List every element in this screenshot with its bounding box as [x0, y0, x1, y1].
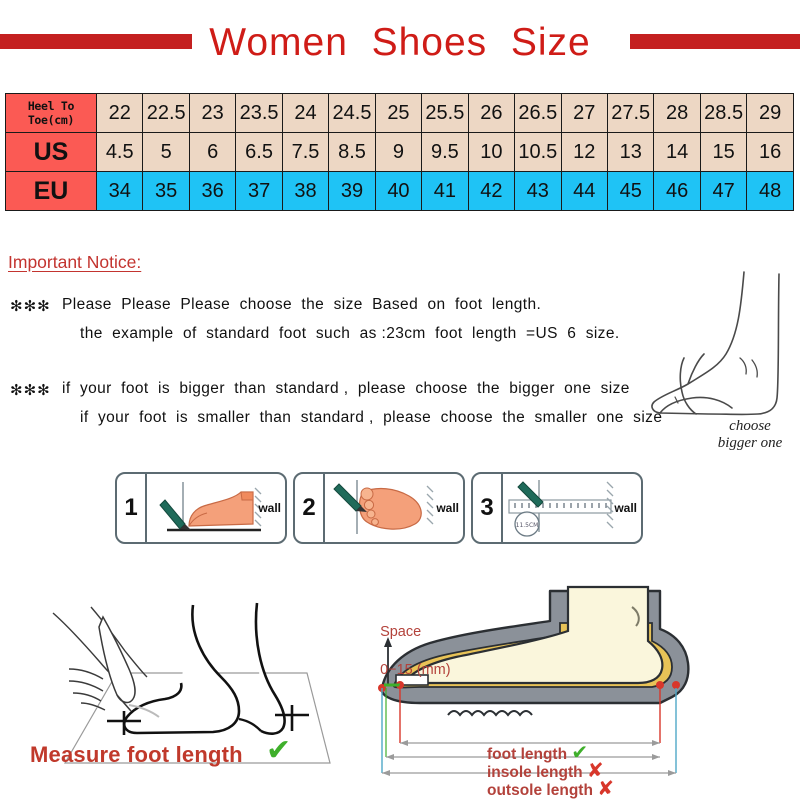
- step-number-2: 2: [295, 474, 325, 542]
- cell-eu-10: 44: [561, 172, 607, 211]
- choose-bigger-one-caption: choose bigger one: [690, 418, 800, 452]
- cell-us-0: 4.5: [97, 133, 143, 172]
- cell-us-13: 15: [700, 133, 746, 172]
- cell-cm-8: 26: [468, 94, 514, 133]
- cell-eu-5: 39: [329, 172, 375, 211]
- cell-us-4: 7.5: [282, 133, 328, 172]
- cell-cm-9: 26.5: [515, 94, 561, 133]
- step-number-1: 1: [117, 474, 147, 542]
- cell-eu-7: 41: [422, 172, 468, 211]
- cell-cm-4: 24: [282, 94, 328, 133]
- cell-eu-6: 40: [375, 172, 421, 211]
- table-row-eu: EU 34 35 36 37 38 39 40 41 42 43 44 45 4…: [6, 172, 794, 211]
- cell-cm-11: 27.5: [607, 94, 653, 133]
- cell-us-5: 8.5: [329, 133, 375, 172]
- space-label-line2: 0−15 (mm): [380, 662, 451, 678]
- cell-eu-0: 34: [97, 172, 143, 211]
- cell-eu-11: 45: [607, 172, 653, 211]
- choose-cap-line1: choose: [729, 418, 771, 434]
- step-panel-1: 1 wall: [115, 472, 287, 544]
- cell-cm-0: 22: [97, 94, 143, 133]
- notice-line-2: the example of standard foot such as :23…: [80, 325, 620, 343]
- cell-cm-12: 28: [654, 94, 700, 133]
- step-3-ruler-badge: 11.5CM: [516, 522, 539, 529]
- table-row-heel-to-toe: Heel To Toe(cm) 22 22.5 23 23.5 24 24.5 …: [6, 94, 794, 133]
- space-label: Space 0−15 (mm): [372, 604, 451, 680]
- row-label-heel-to-toe: Heel To Toe(cm): [6, 94, 97, 133]
- cell-eu-3: 37: [236, 172, 282, 211]
- measure-foot-length-caption: Measure foot length: [30, 742, 243, 768]
- cell-cm-1: 22.5: [143, 94, 189, 133]
- row-label-eu: EU: [6, 172, 97, 211]
- page-title: Women Shoes Size: [0, 18, 800, 68]
- cell-us-12: 14: [654, 133, 700, 172]
- cell-us-14: 16: [747, 133, 794, 172]
- cell-cm-10: 27: [561, 94, 607, 133]
- cell-cm-7: 25.5: [422, 94, 468, 133]
- notice-line-4: if your foot is smaller than standard , …: [80, 409, 662, 427]
- cell-us-2: 6: [189, 133, 235, 172]
- cell-eu-1: 35: [143, 172, 189, 211]
- step-3-wall-label: wall: [614, 501, 637, 515]
- step-1-wall-label: wall: [258, 501, 281, 515]
- cell-eu-12: 46: [654, 172, 700, 211]
- space-label-line1: Space: [380, 624, 421, 640]
- cell-us-7: 9.5: [422, 133, 468, 172]
- cell-cm-2: 23: [189, 94, 235, 133]
- cell-eu-14: 48: [747, 172, 794, 211]
- cell-us-8: 10: [468, 133, 514, 172]
- size-chart-table: Heel To Toe(cm) 22 22.5 23 23.5 24 24.5 …: [5, 93, 794, 211]
- cell-cm-13: 28.5: [700, 94, 746, 133]
- outsole-length-label-row: outsole length ✘: [487, 776, 614, 801]
- cell-us-3: 6.5: [236, 133, 282, 172]
- page-title-bar: Women Shoes Size: [0, 18, 800, 70]
- step-panel-3: 3 11.5CM wall: [471, 472, 643, 544]
- outsole-length-label: outsole length: [487, 782, 593, 799]
- important-notice-heading: Important Notice:: [8, 252, 141, 273]
- cell-us-10: 12: [561, 133, 607, 172]
- cell-cm-6: 25: [375, 94, 421, 133]
- row-label-us: US: [6, 133, 97, 172]
- notice-line-1: Please Please Please choose the size Bas…: [62, 296, 541, 314]
- notice-bullet-2: ✻✻✻: [10, 381, 51, 399]
- table-row-us: US 4.5 5 6 6.5 7.5 8.5 9 9.5 10 10.5 12 …: [6, 133, 794, 172]
- cell-cm-14: 29: [747, 94, 794, 133]
- cell-eu-8: 42: [468, 172, 514, 211]
- cell-eu-9: 43: [515, 172, 561, 211]
- cell-us-11: 13: [607, 133, 653, 172]
- measure-check-icon: ✔: [266, 733, 291, 768]
- notice-line-3: if your foot is bigger than standard , p…: [62, 380, 630, 398]
- cell-cm-5: 24.5: [329, 94, 375, 133]
- cell-us-1: 5: [143, 133, 189, 172]
- step-2-wall-label: wall: [436, 501, 459, 515]
- notice-bullet-1: ✻✻✻: [10, 297, 51, 315]
- cell-us-6: 9: [375, 133, 421, 172]
- cell-cm-3: 23.5: [236, 94, 282, 133]
- cell-eu-2: 36: [189, 172, 235, 211]
- outsole-length-cross-icon: ✘: [597, 778, 614, 800]
- cell-us-9: 10.5: [515, 133, 561, 172]
- cell-eu-4: 38: [282, 172, 328, 211]
- choose-cap-line2: bigger one: [718, 435, 783, 451]
- step-panel-2: 2 wall: [293, 472, 465, 544]
- cell-eu-13: 47: [700, 172, 746, 211]
- step-number-3: 3: [473, 474, 503, 542]
